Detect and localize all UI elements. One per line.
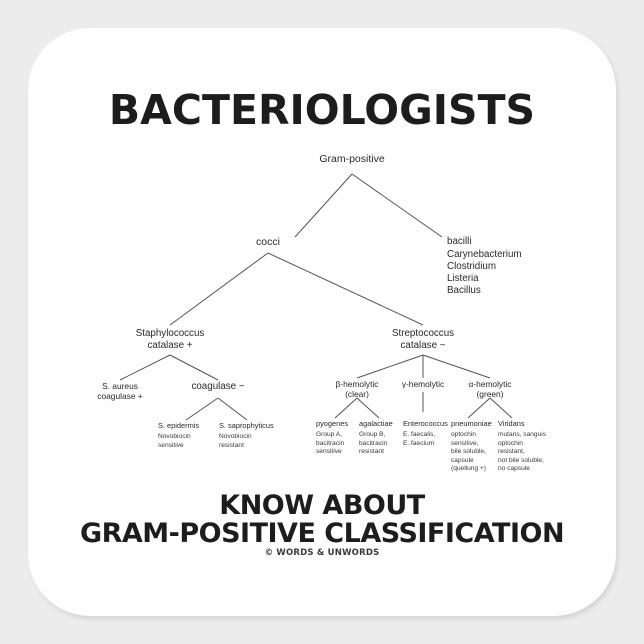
poster-canvas: BACTERIOLOGISTS Gram-positive cocci baci…: [0, 0, 644, 644]
node-gram-positive: Gram-positive: [319, 153, 384, 166]
leaf-title: pyogenes: [316, 419, 356, 428]
leaf-agalactiae: agalactiae Group B, bacitracin resistant: [359, 419, 401, 457]
leaf-title: S. saprophyticus: [219, 421, 281, 430]
node-bacilli-title: bacilli: [447, 236, 472, 248]
node-streptococcus: Streptococcus catalase −: [392, 328, 454, 352]
leaf-title: Enterococcus: [403, 419, 449, 428]
copyright-notice: © WORDS & UNWORDS: [0, 548, 644, 558]
leaf-pneumoniae: pneumoniae optochin sensitive, bile solu…: [451, 419, 495, 474]
node-cocci: cocci: [256, 236, 280, 249]
page-title: BACTERIOLOGISTS: [0, 86, 644, 134]
leaf-title: pneumoniae: [451, 419, 495, 428]
leaf-detail: Novobiocin resistant: [219, 433, 281, 450]
node-s-aureus: S. aureus coagulase +: [97, 381, 142, 402]
leaf-detail: mutans, sanguis optochin resistant, not …: [498, 431, 558, 474]
node-coagulase-negative: coagulase −: [191, 381, 244, 393]
node-gamma-hemolytic: γ-hemolytic: [402, 379, 444, 389]
node-staphylococcus: Staphylococcus catalase +: [136, 328, 205, 352]
leaf-pyogenes: pyogenes Group A, bacitracin sensitive: [316, 419, 356, 457]
subtitle-line-1: KNOW ABOUT: [0, 490, 644, 521]
leaf-detail: Group B, bacitracin resistant: [359, 431, 401, 457]
node-alpha-hemolytic: α-hemolytic (green): [468, 379, 511, 400]
leaf-s-saprophyticus: S. saprophyticus Novobiocin resistant: [219, 421, 281, 450]
node-bacilli-list: Carynebacterium Clostridium Listeria Bac…: [447, 249, 522, 297]
leaf-enterococcus: Enterococcus E. faecalis, E. faecium: [403, 419, 449, 448]
leaf-title: S. epidermis: [158, 421, 214, 430]
leaf-detail: Group A, bacitracin sensitive: [316, 431, 356, 457]
leaf-title: agalactiae: [359, 419, 401, 428]
leaf-detail: E. faecalis, E. faecium: [403, 431, 449, 448]
leaf-viridans: Viridans mutans, sanguis optochin resist…: [498, 419, 558, 474]
leaf-detail: Novobiocin sensitive: [158, 433, 214, 450]
subtitle-line-2: GRAM-POSITIVE CLASSIFICATION: [0, 518, 644, 549]
node-beta-hemolytic: β-hemolytic (clear): [336, 379, 379, 400]
leaf-s-epidermis: S. epidermis Novobiocin sensitive: [158, 421, 214, 450]
leaf-detail: optochin sensitive, bile soluble, capsul…: [451, 431, 495, 474]
leaf-title: Viridans: [498, 419, 558, 428]
